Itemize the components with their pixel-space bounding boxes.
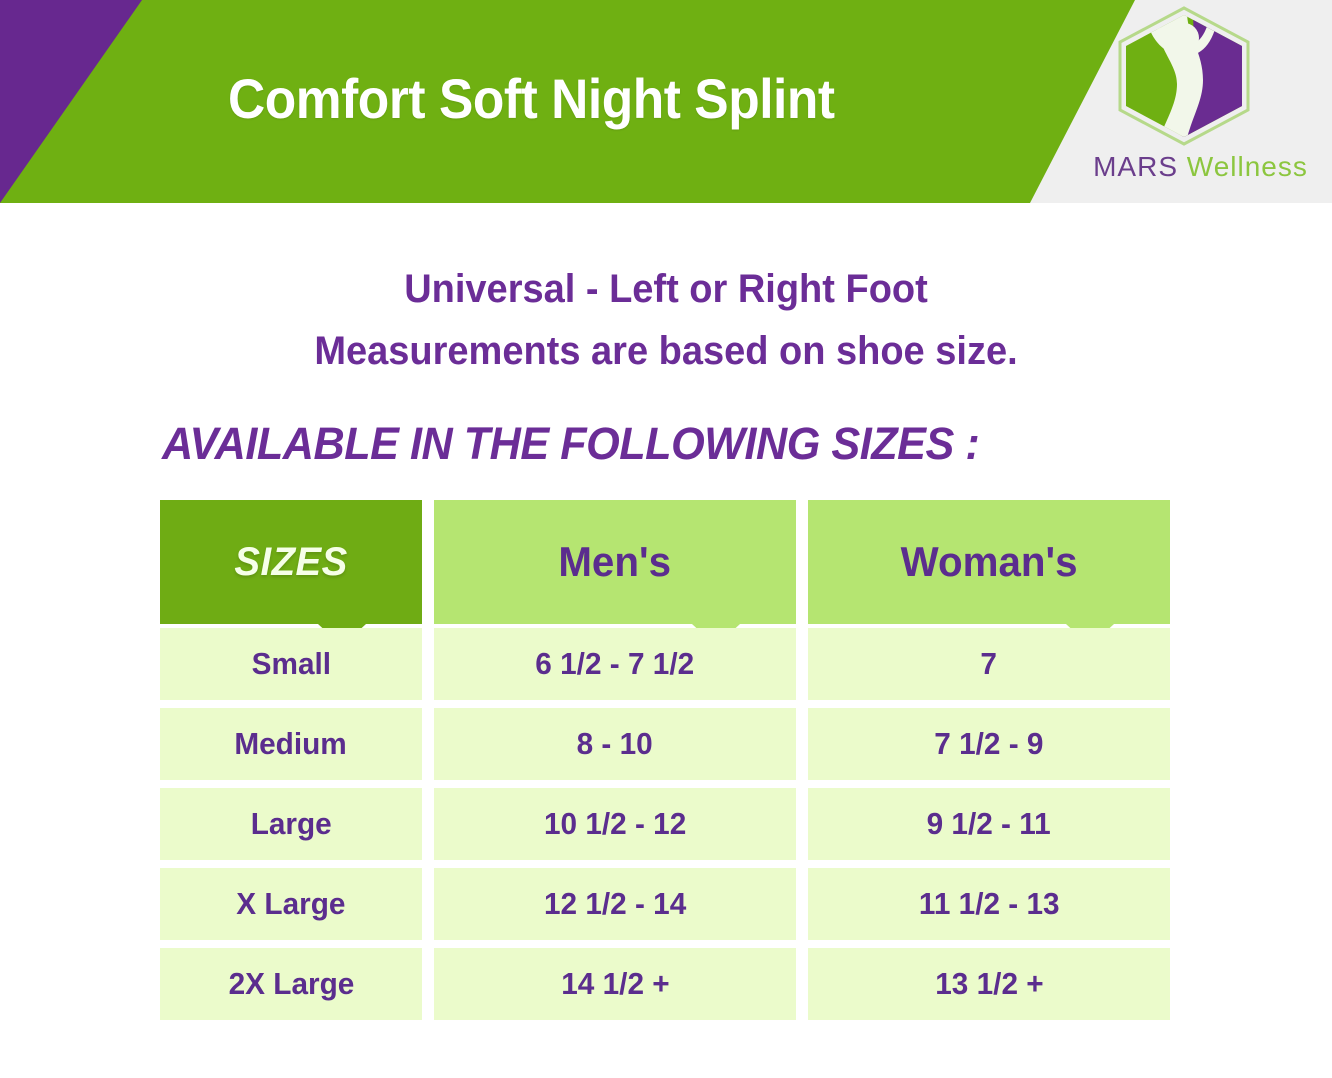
- cell-text: 9 1/2 - 11: [927, 806, 1051, 842]
- intro-line-1: Universal - Left or Right Foot: [33, 258, 1298, 320]
- intro-line-2: Measurements are based on shoe size.: [33, 320, 1298, 382]
- cell-mens-value: 14 1/2 +: [434, 948, 796, 1020]
- cell-size-name: X Large: [160, 868, 422, 940]
- cell-mens-value: 12 1/2 - 14: [434, 868, 796, 940]
- cell-text: 8 - 10: [577, 726, 653, 762]
- table-header-row: SIZES Men's Woman's: [160, 500, 1170, 624]
- brand-name-primary: MARS: [1093, 151, 1178, 182]
- cell-womens-value: 9 1/2 - 11: [808, 788, 1170, 860]
- cell-text: Small: [251, 646, 330, 682]
- cell-text: 14 1/2 +: [561, 966, 669, 1002]
- cell-text: 13 1/2 +: [935, 966, 1043, 1002]
- table-row: Large 10 1/2 - 12 9 1/2 - 11: [160, 788, 1170, 860]
- cell-womens-value: 11 1/2 - 13: [808, 868, 1170, 940]
- cell-mens-value: 8 - 10: [434, 708, 796, 780]
- brand-wordmark: MARS Wellness: [1093, 151, 1308, 183]
- column-header-womens-label: Woman's: [901, 538, 1078, 586]
- table-row: X Large 12 1/2 - 14 11 1/2 - 13: [160, 868, 1170, 940]
- column-header-womens: Woman's: [808, 500, 1170, 624]
- size-chart-table: SIZES Men's Woman's Small 6 1/2 - 7 1/2 …: [160, 500, 1170, 1028]
- cell-womens-value: 7: [808, 628, 1170, 700]
- page-title: Comfort Soft Night Splint: [228, 66, 835, 131]
- column-header-sizes: SIZES: [160, 500, 422, 624]
- cell-text: 7: [981, 646, 998, 682]
- hexagon-person-icon: [1115, 6, 1253, 146]
- cell-text: 6 1/2 - 7 1/2: [536, 646, 695, 682]
- cell-size-name: Small: [160, 628, 422, 700]
- cell-text: 12 1/2 - 14: [544, 886, 686, 922]
- cell-text: Medium: [235, 726, 347, 762]
- table-row: Medium 8 - 10 7 1/2 - 9: [160, 708, 1170, 780]
- cell-size-name: Large: [160, 788, 422, 860]
- column-header-mens-label: Men's: [559, 538, 672, 586]
- cell-mens-value: 6 1/2 - 7 1/2: [434, 628, 796, 700]
- table-row: Small 6 1/2 - 7 1/2 7: [160, 628, 1170, 700]
- brand-logo: MARS Wellness: [1093, 6, 1308, 196]
- column-header-sizes-label: SIZES: [234, 540, 347, 585]
- cell-text: Large: [250, 806, 331, 842]
- cell-text: 7 1/2 - 9: [934, 726, 1043, 762]
- cell-text: 11 1/2 - 13: [919, 886, 1060, 922]
- intro-text-block: Universal - Left or Right Foot Measureme…: [0, 258, 1332, 382]
- table-row: 2X Large 14 1/2 + 13 1/2 +: [160, 948, 1170, 1020]
- column-header-mens: Men's: [434, 500, 796, 624]
- table-body: Small 6 1/2 - 7 1/2 7 Medium 8 - 10 7 1/…: [160, 628, 1170, 1020]
- cell-womens-value: 13 1/2 +: [808, 948, 1170, 1020]
- cell-womens-value: 7 1/2 - 9: [808, 708, 1170, 780]
- cell-size-name: 2X Large: [160, 948, 422, 1020]
- cell-text: 10 1/2 - 12: [544, 806, 686, 842]
- cell-text: X Large: [236, 886, 345, 922]
- available-sizes-heading: AVAILABLE IN THE FOLLOWING SIZES :: [162, 418, 979, 470]
- cell-size-name: Medium: [160, 708, 422, 780]
- cell-text: 2X Large: [228, 966, 354, 1002]
- brand-name-secondary: Wellness: [1187, 151, 1308, 182]
- cell-mens-value: 10 1/2 - 12: [434, 788, 796, 860]
